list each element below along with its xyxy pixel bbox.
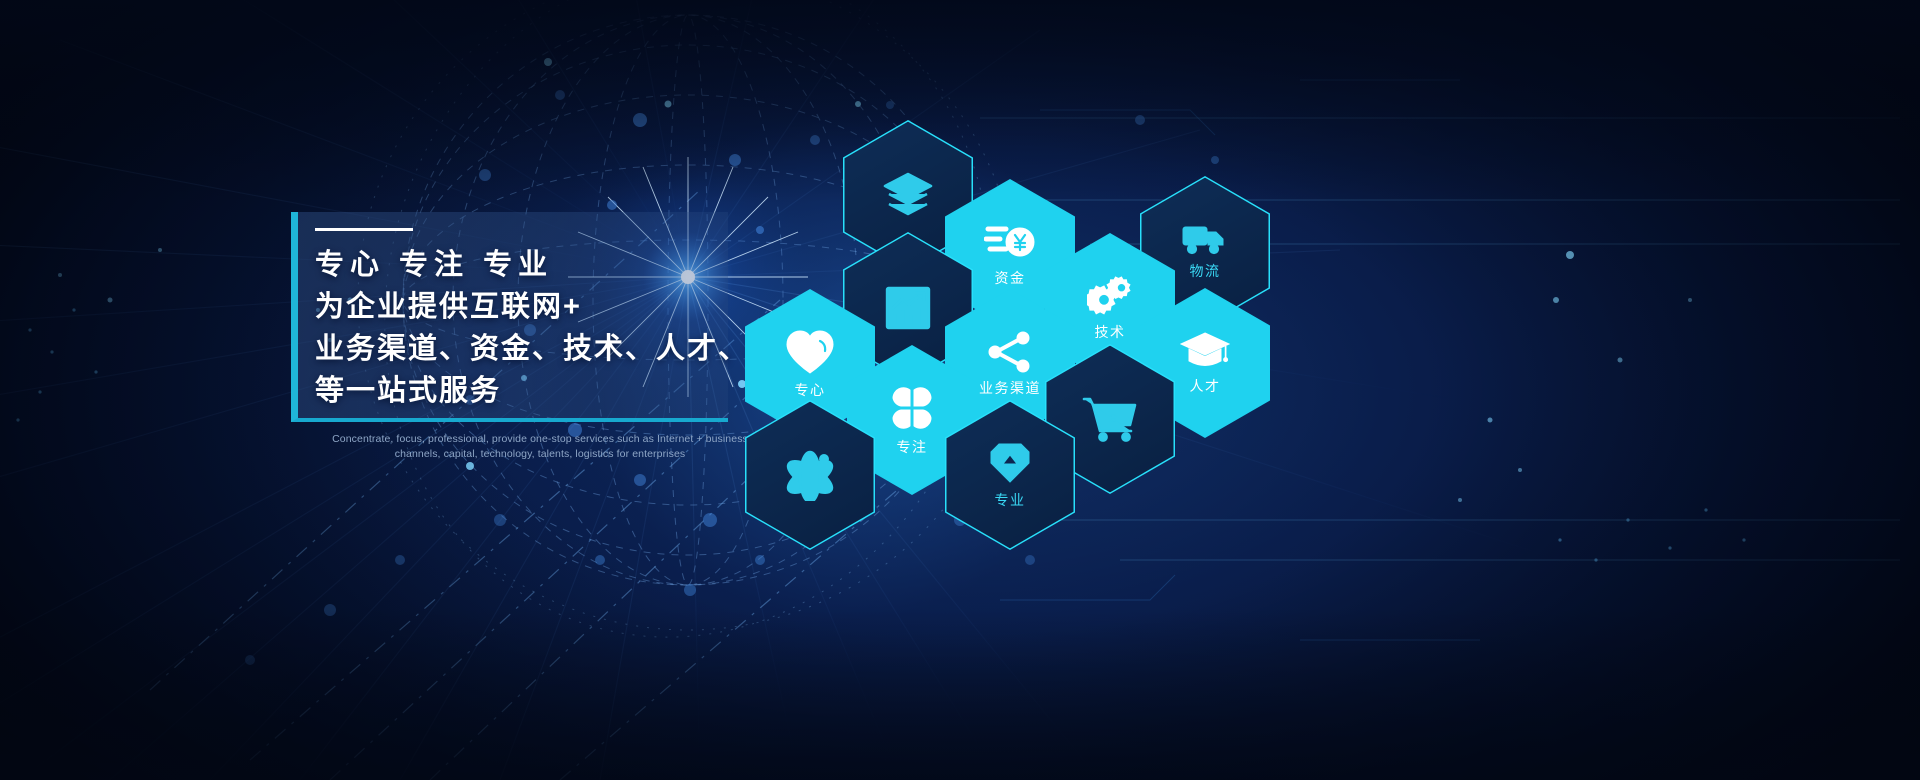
hex-technology-label: 技术 xyxy=(1095,322,1126,342)
hex-talent-label: 人才 xyxy=(1190,376,1221,396)
hex-logistics-label: 物流 xyxy=(1190,261,1221,281)
headline-panel: 专心 专注 专业 为企业提供互联网+ 业务渠道、资金、技术、人才、物流 等一站式… xyxy=(291,212,728,422)
headline-line-1: 专心 专注 专业 xyxy=(315,244,735,286)
graduation-cap-icon xyxy=(1180,331,1230,371)
hex-dedication-label: 专心 xyxy=(795,380,826,400)
headline-line-4: 等一站式服务 xyxy=(315,370,735,412)
yen-money-icon xyxy=(984,221,1036,263)
atom-icon xyxy=(782,449,838,501)
english-subtitle: Concentrate, focus, professional, provid… xyxy=(330,432,750,462)
heart-icon xyxy=(784,329,836,375)
banner-stage: 专心 专注 专业 为企业提供互联网+ 业务渠道、资金、技术、人才、物流 等一站式… xyxy=(0,0,1920,780)
shopping-cart-e-icon: e xyxy=(1081,395,1139,443)
gears-icon xyxy=(1087,275,1133,317)
headline-line-2: 为企业提供互联网+ xyxy=(315,286,735,328)
title-rule xyxy=(315,228,413,231)
share-nodes-icon xyxy=(987,331,1033,373)
clover-icon xyxy=(888,384,936,432)
svg-text:e: e xyxy=(1109,407,1117,426)
chart-growth-icon xyxy=(883,282,933,332)
hex-professional-label: 专业 xyxy=(995,490,1026,510)
headline-line-3: 业务渠道、资金、技术、人才、物流 xyxy=(315,328,735,370)
truck-icon xyxy=(1182,222,1228,256)
hex-capital-label: 资金 xyxy=(995,268,1026,288)
hex-focus-label: 专注 xyxy=(897,437,928,457)
layers-icon xyxy=(881,170,935,220)
diamond-gem-icon xyxy=(989,441,1031,485)
hex-channels-label: 业务渠道 xyxy=(979,378,1041,398)
